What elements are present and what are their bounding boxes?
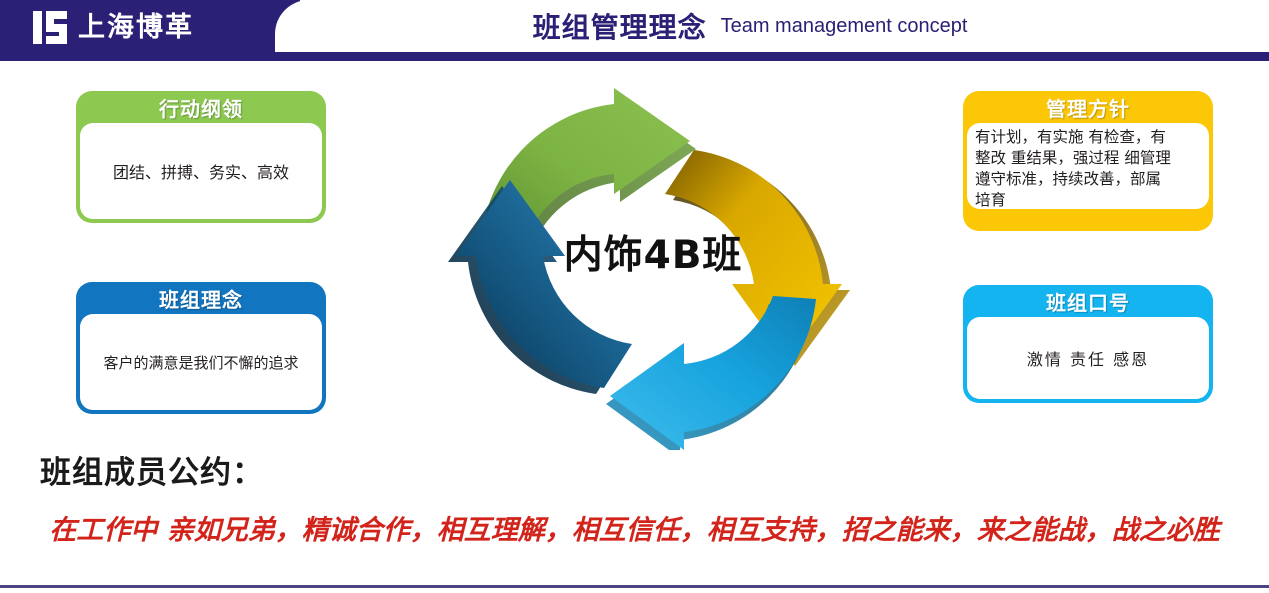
brand-logo-text: 上海博革 bbox=[78, 11, 194, 44]
page-title: 班组管理理念 bbox=[533, 6, 707, 46]
header-navy-strip bbox=[0, 52, 1269, 61]
card-action-guideline-text: 团结、拼搏、务实、高效 bbox=[113, 159, 289, 183]
pledge-heading: 班组成员公约： bbox=[40, 447, 264, 492]
card-management-policy-body: 有计划，有实施 有检查，有 整改 重结果，强过程 细管理 遵守标准，持续改善，部… bbox=[967, 123, 1209, 209]
header-title-group: 班组管理理念 Team management concept bbox=[335, 0, 1165, 52]
card-management-policy-title: 管理方针 bbox=[967, 95, 1209, 123]
arrow-bottom-cyan bbox=[606, 296, 816, 450]
brand-logo[interactable]: 上海博革 bbox=[33, 9, 194, 45]
page-header: 上海博革 班组管理理念 Team management concept bbox=[0, 0, 1269, 62]
card-team-concept-title: 班组理念 bbox=[80, 286, 322, 314]
card-team-concept-body: 客户的满意是我们不懈的追求 bbox=[80, 314, 322, 410]
card-team-concept-text: 客户的满意是我们不懈的追求 bbox=[103, 352, 298, 373]
policy-line-4: 培育 bbox=[975, 190, 1171, 211]
bg-monogram-icon bbox=[33, 11, 67, 44]
card-team-slogan-title: 班组口号 bbox=[967, 289, 1209, 317]
card-management-policy[interactable]: 管理方针 有计划，有实施 有检查，有 整改 重结果，强过程 细管理 遵守标准，持… bbox=[963, 91, 1213, 231]
footer-rule bbox=[0, 585, 1269, 588]
card-action-guideline[interactable]: 行动纲领 团结、拼搏、务实、高效 bbox=[76, 91, 326, 223]
card-action-guideline-title: 行动纲领 bbox=[80, 95, 322, 123]
card-team-concept[interactable]: 班组理念 客户的满意是我们不懈的追求 bbox=[76, 282, 326, 414]
card-management-policy-lines: 有计划，有实施 有检查，有 整改 重结果，强过程 细管理 遵守标准，持续改善，部… bbox=[975, 127, 1171, 211]
policy-line-3: 遵守标准，持续改善，部属 bbox=[975, 169, 1171, 190]
policy-line-2: 整改 重结果，强过程 细管理 bbox=[975, 148, 1171, 169]
cycle-diagram: 内饰4B班 bbox=[418, 84, 888, 450]
pledge-text: 在工作中 亲如兄弟，精诚合作，相互理解，相互信任，相互支持，招之能来，来之能战，… bbox=[0, 508, 1269, 547]
card-team-slogan[interactable]: 班组口号 激情 责任 感恩 bbox=[963, 285, 1213, 403]
card-action-guideline-body: 团结、拼搏、务实、高效 bbox=[80, 123, 322, 219]
policy-line-1: 有计划，有实施 有检查，有 bbox=[975, 127, 1171, 148]
page-subtitle: Team management concept bbox=[721, 15, 968, 38]
card-team-slogan-text: 激情 责任 感恩 bbox=[1027, 346, 1149, 370]
card-team-slogan-body: 激情 责任 感恩 bbox=[967, 317, 1209, 399]
